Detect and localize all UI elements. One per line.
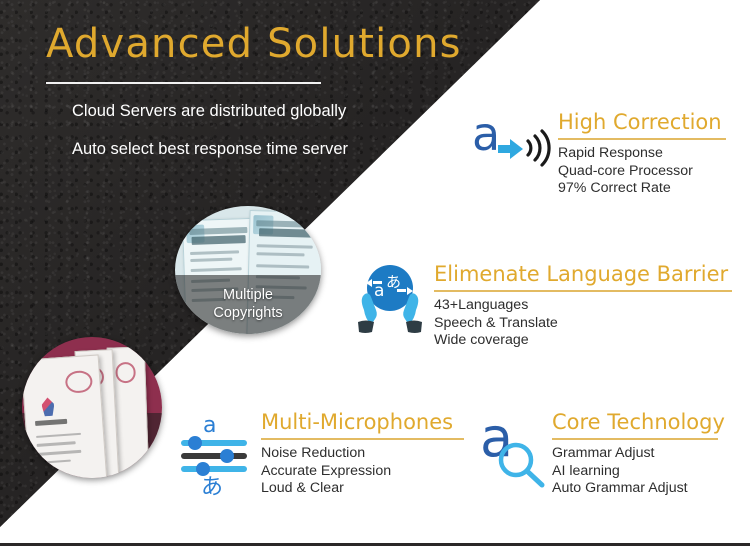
photo-caption-line-2: Copyrights [213,305,282,322]
feature-title: Core Technology [552,410,725,434]
feature-text-block: Multi-Microphones Noise Reduction Accura… [261,410,464,498]
photo-caption-line-1: Multiple [223,287,273,304]
letter-a-magnifier-icon: a [480,410,550,493]
feature-high-correction: a High Correction Rapid Response Quad-co… [470,110,750,210]
feature-title: Multi-Microphones [261,410,464,434]
patent-certificates-image [22,337,162,478]
svg-text:あ: あ [201,475,223,498]
svg-text:a: a [472,110,500,161]
feature-core-technology: a Core Technology Grammar Adjust AI lear… [480,410,750,520]
equalizer-slider-icon: a あ [175,410,255,503]
feature-divider [558,138,726,140]
hands-translate-circle-icon: a あ [352,262,428,345]
title-divider [46,82,321,84]
feature-bullet-2: Quad-core Processor [558,163,726,181]
hero-subtitle-2: Auto select best response time server [72,140,348,159]
feature-text-block: High Correction Rapid Response Quad-core… [558,110,726,198]
feature-bullet-1: Grammar Adjust [552,445,725,463]
feature-eliminate-language-barrier: a あ Elimenate Language Barrier 43+Langua… [352,262,750,362]
feature-bullet-3: Wide coverage [434,332,732,350]
feature-divider [552,438,718,440]
feature-divider [434,290,732,292]
feature-title: Elimenate Language Barrier [434,262,732,286]
poster-canvas: Advanced Solutions Cloud Servers are dis… [0,0,750,546]
page-title: Advanced Solutions [46,21,462,67]
photo-multiple-patents: Multiple Patents [22,337,162,478]
feature-divider [261,438,464,440]
feature-bullet-2: Accurate Expression [261,463,464,481]
svg-text:a: a [203,413,216,438]
feature-bullet-3: Auto Grammar Adjust [552,480,725,498]
feature-bullet-1: Rapid Response [558,145,726,163]
photo-multiple-copyrights: Multiple Copyrights [175,206,321,334]
svg-text:a: a [480,410,513,469]
photo-caption-copyrights: Multiple Copyrights [175,275,321,334]
feature-bullet-3: 97% Correct Rate [558,180,726,198]
feature-multi-microphones: a あ Multi-Microphones Noise Reduction Ac… [175,410,475,520]
feature-title: High Correction [558,110,726,134]
feature-bullet-1: Noise Reduction [261,445,464,463]
feature-bullet-2: Speech & Translate [434,315,732,333]
feature-text-block: Core Technology Grammar Adjust AI learni… [552,410,725,498]
feature-bullet-1: 43+Languages [434,297,732,315]
svg-text:あ: あ [386,273,401,291]
letter-a-arrow-soundwave-icon: a [470,110,552,177]
feature-text-block: Elimenate Language Barrier 43+Languages … [434,262,732,350]
feature-bullet-2: AI learning [552,463,725,481]
feature-bullet-3: Loud & Clear [261,480,464,498]
hero-subtitle-1: Cloud Servers are distributed globally [72,102,346,121]
